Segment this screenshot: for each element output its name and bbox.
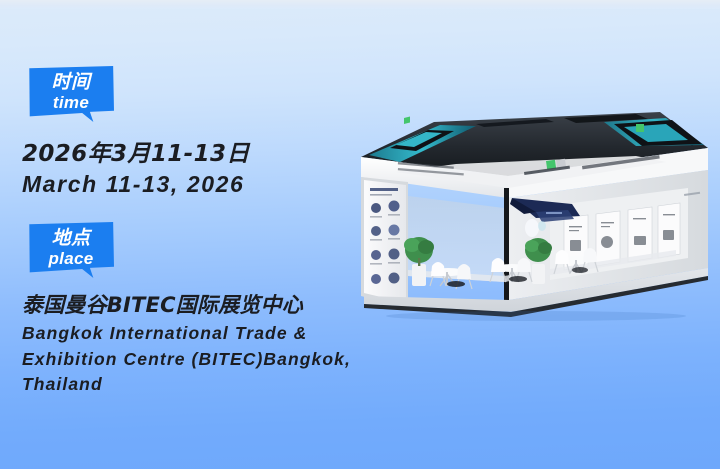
booth-left-wall-graphic [364, 180, 406, 303]
event-venue-english-line1: Bangkok International Trade & [22, 321, 362, 347]
time-badge-cn-label: 时间 [51, 73, 90, 92]
place-badge: 地点 place [28, 222, 114, 278]
booth-ground-shadow [386, 311, 686, 321]
time-badge-en-label: time [53, 94, 89, 111]
event-venue-english-line2: Exhibition Centre (BITEC)Bangkok, [22, 347, 362, 373]
promo-poster: 时间 time 2026年3月11-13日 March 11-13, 2026 … [0, 0, 720, 469]
time-badge: 时间 time [28, 66, 114, 122]
booth-corner-pillar [504, 188, 509, 300]
event-venue-block: 泰国曼谷BITEC国际展览中心 Bangkok International Tr… [22, 292, 362, 398]
place-badge-en-label: place [49, 250, 94, 267]
event-venue-english-line3: Thailand [22, 372, 362, 398]
event-venue-chinese: 泰国曼谷BITEC国际展览中心 [22, 292, 362, 318]
booth-illustration [336, 100, 720, 332]
event-date-block: 2026年3月11-13日 March 11-13, 2026 [22, 140, 352, 200]
event-date-chinese: 2026年3月11-13日 [22, 140, 352, 168]
place-badge-cn-label: 地点 [51, 229, 90, 248]
event-date-english: March 11-13, 2026 [22, 170, 352, 200]
event-info-column: 时间 time 2026年3月11-13日 March 11-13, 2026 … [0, 0, 360, 469]
exhibition-booth-image [336, 100, 720, 332]
